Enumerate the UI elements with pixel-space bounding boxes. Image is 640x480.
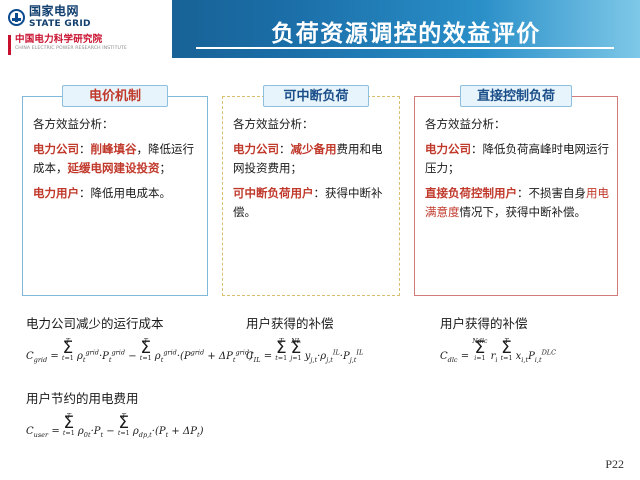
formula-equation-dlc-compensation: Cdlc = NdlcΣi=1 ri TΣt=1 xi,tPi,tDLC — [440, 338, 556, 364]
text-segment: ：降低用电成本。 — [79, 186, 171, 200]
text-segment: 各方效益分析： — [33, 117, 114, 131]
panel-paragraph: 电力公司：减少备用费用和电网投资费用； — [233, 140, 391, 178]
panel-body-interruptible-load: 各方效益分析：电力公司：减少备用费用和电网投资费用；可中断负荷用户：获得中断补偿… — [233, 115, 391, 228]
text-segment: 可中断负荷用户 — [233, 186, 314, 200]
panel-paragraph: 电力公司：削峰填谷，降低运行成本，延缓电网建设投资； — [33, 140, 199, 178]
text-segment: 电力公司 — [33, 142, 79, 156]
formula-equation-grid-cost: Cgrid = TΣt=1 ρtgrid·Ptgrid − TΣt=1 ρtgr… — [26, 338, 253, 364]
panel-paragraph: 直接负荷控制用户：不损害自身用电满意度情况下，获得中断补偿。 — [425, 184, 609, 222]
state-grid-brand: 国家电网 STATE GRID — [8, 5, 168, 30]
formula-group-user-saving: 用户节约的用电费用 Cuser = TΣt=1 ρ0t·Pt − TΣt=1 ρ… — [26, 390, 203, 439]
text-segment: 削峰填谷 — [91, 142, 137, 156]
text-segment: 电力公司 — [425, 142, 471, 156]
formula-equation-il-compensation: CIL = TΣt=1 NLΣj=1 yj,t·ρj,tIL·Pj,tIL — [246, 338, 363, 364]
panel-body-direct-load-control: 各方效益分析：电力公司：降低负荷高峰时电网运行压力；直接负荷控制用户：不损害自身… — [425, 115, 609, 228]
text-segment: 电力公司 — [233, 142, 279, 156]
panel-paragraph: 电力公司：降低负荷高峰时电网运行压力； — [425, 140, 609, 178]
text-segment: 延缓电网建设投资 — [68, 161, 160, 175]
panel-paragraph: 可中断负荷用户：获得中断补偿。 — [233, 184, 391, 222]
content-panel-price-mechanism: 各方效益分析：电力公司：削峰填谷，降低运行成本，延缓电网建设投资；电力用户：降低… — [22, 96, 208, 296]
text-segment: 各方效益分析： — [425, 117, 506, 131]
panel-title-price-mechanism: 电价机制 — [62, 85, 168, 107]
page-number: P22 — [605, 457, 624, 472]
logo-company-name-cn: 国家电网 — [29, 5, 91, 18]
panel-title-direct-load-control: 直接控制负荷 — [460, 85, 572, 107]
brand-logo-block: 国家电网 STATE GRID 中国电力科学研究院 CHINA ELECTRIC… — [8, 5, 168, 55]
institute-name-cn: 中国电力科学研究院 — [15, 34, 127, 45]
panel-paragraph: 各方效益分析： — [33, 115, 199, 134]
text-segment: 各方效益分析： — [233, 117, 314, 131]
text-segment: 情况下，获得中断补偿。 — [460, 205, 587, 219]
formula-caption-dlc-compensation: 用户获得的补偿 — [440, 315, 556, 332]
formula-group-dlc-compensation: 用户获得的补偿 Cdlc = NdlcΣi=1 ri TΣt=1 xi,tPi,… — [440, 315, 556, 364]
institute-name-en: CHINA ELECTRIC POWER RESEARCH INSTITUTE — [15, 46, 127, 52]
panel-paragraph: 各方效益分析： — [425, 115, 609, 134]
text-segment: 减少备用 — [291, 142, 337, 156]
institute-brand: 中国电力科学研究院 CHINA ELECTRIC POWER RESEARCH … — [8, 34, 168, 55]
text-segment: ： — [279, 142, 291, 156]
page-title: 负荷资源调控的效益评价 — [186, 14, 626, 48]
formula-group-grid-cost: 电力公司减少的运行成本 Cgrid = TΣt=1 ρtgrid·Ptgrid … — [26, 315, 253, 364]
title-underline — [196, 47, 614, 49]
formula-caption-user-saving: 用户节约的用电费用 — [26, 390, 203, 407]
panel-body-price-mechanism: 各方效益分析：电力公司：削峰填谷，降低运行成本，延缓电网建设投资；电力用户：降低… — [33, 115, 199, 209]
text-segment: ： — [79, 142, 91, 156]
text-segment: 电力用户 — [33, 186, 79, 200]
formula-equation-user-saving: Cuser = TΣt=1 ρ0t·Pt − TΣt=1 ρdp,t·(Pt +… — [26, 413, 203, 439]
formula-caption-grid-cost: 电力公司减少的运行成本 — [26, 315, 253, 332]
state-grid-logo-icon — [8, 9, 25, 26]
red-bar-divider — [8, 35, 11, 55]
formula-caption-il-compensation: 用户获得的补偿 — [246, 315, 363, 332]
panel-title-interruptible-load: 可中断负荷 — [263, 85, 369, 107]
text-segment: 直接负荷控制用户 — [425, 186, 517, 200]
panel-paragraph: 电力用户：降低用电成本。 — [33, 184, 199, 203]
logo-company-name-en: STATE GRID — [29, 19, 91, 30]
panel-paragraph: 各方效益分析： — [233, 115, 391, 134]
content-panel-interruptible-load: 各方效益分析：电力公司：减少备用费用和电网投资费用；可中断负荷用户：获得中断补偿… — [222, 96, 400, 296]
content-panel-direct-load-control: 各方效益分析：电力公司：降低负荷高峰时电网运行压力；直接负荷控制用户：不损害自身… — [414, 96, 618, 296]
text-segment: ； — [160, 161, 172, 175]
formula-group-il-compensation: 用户获得的补偿 CIL = TΣt=1 NLΣj=1 yj,t·ρj,tIL·P… — [246, 315, 363, 364]
text-segment: ：不损害自身 — [517, 186, 586, 200]
